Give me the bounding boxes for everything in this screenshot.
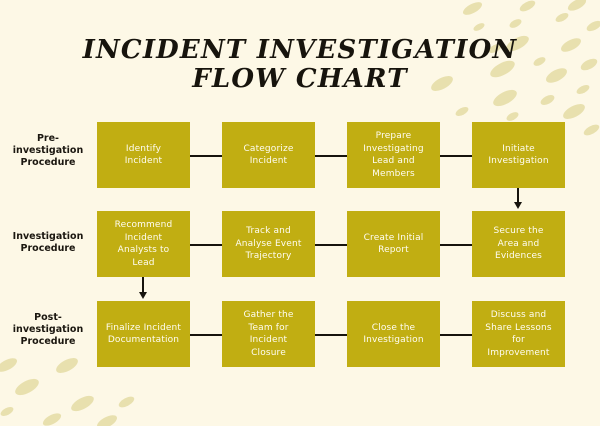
confetti-ellipse (461, 0, 484, 17)
node-label: Track and Analyse Event Trajectory (230, 225, 306, 263)
node-recommend-incident-analysts[interactable]: Recommend Incident Analysts to Lead (97, 211, 190, 277)
node-label-line: Track and (235, 225, 301, 238)
confetti-ellipse (454, 105, 470, 118)
connector-row1-3 (436, 155, 476, 157)
row-label-pre-investigation: Pre- investigation Procedure (2, 133, 94, 169)
node-discuss-share-lessons[interactable]: Discuss and Share Lessons for Improvemen… (472, 301, 565, 367)
row-label-line: Procedure (2, 157, 94, 169)
confetti-ellipse (13, 376, 42, 399)
node-gather-team-incident-closure[interactable]: Gather the Team for Incident Closure (222, 301, 315, 367)
row-label-line: investigation (2, 324, 94, 336)
node-label: Gather the Team for Incident Closure (238, 309, 298, 359)
node-label-line: Prepare (363, 130, 424, 143)
node-label-line: Trajectory (235, 250, 301, 263)
node-label-line: Closure (243, 347, 293, 360)
node-track-analyse-event-trajectory[interactable]: Track and Analyse Event Trajectory (222, 211, 315, 277)
connector-row1-2 (311, 155, 351, 157)
title-line-1: INCIDENT INVESTIGATION (0, 36, 600, 65)
confetti-ellipse (518, 0, 537, 14)
node-label-line: Incident (243, 334, 293, 347)
confetti-ellipse (505, 110, 520, 122)
node-label-line: Incident (115, 232, 173, 245)
node-label-line: Analyse Event (235, 238, 301, 251)
node-label-line: Lead (115, 257, 173, 270)
confetti-ellipse (585, 19, 600, 34)
node-label-line: for (485, 334, 551, 347)
flowchart-canvas: INCIDENT INVESTIGATION FLOW CHART Pre- i… (0, 0, 600, 426)
node-label-line: Secure the (493, 225, 543, 238)
node-label-line: Documentation (106, 334, 181, 347)
node-label: Prepare Investigating Lead and Members (358, 130, 429, 180)
node-label-line: Identify (125, 143, 163, 156)
node-label-line: Create Initial (364, 232, 424, 245)
node-label-line: Incident (125, 155, 163, 168)
confetti-ellipse (582, 122, 600, 137)
confetti-ellipse (0, 405, 15, 418)
node-label-line: Share Lessons (485, 322, 551, 335)
node-initiate-investigation[interactable]: Initiate Investigation (472, 122, 565, 188)
node-label: Secure the Area and Evidences (488, 225, 548, 263)
confetti-ellipse (117, 394, 136, 409)
node-label: Discuss and Share Lessons for Improvemen… (480, 309, 556, 359)
row-label-line: Investigation (2, 231, 94, 243)
node-label-line: Investigation (363, 334, 423, 347)
row-label-post-investigation: Post- investigation Procedure (2, 312, 94, 348)
node-label-line: Improvement (485, 347, 551, 360)
confetti-ellipse (95, 412, 119, 426)
confetti-ellipse (54, 355, 80, 376)
node-label-line: Team for (243, 322, 293, 335)
node-label-line: Gather the (243, 309, 293, 322)
node-label-line: Investigation (488, 155, 548, 168)
node-close-the-investigation[interactable]: Close the Investigation (347, 301, 440, 367)
connector-row3-1 (186, 334, 226, 336)
node-finalize-incident-documentation[interactable]: Finalize Incident Documentation (97, 301, 190, 367)
connector-row2-3 (436, 244, 476, 246)
confetti-ellipse (472, 22, 485, 33)
node-label-line: Evidences (493, 250, 543, 263)
node-label-line: Initiate (488, 143, 548, 156)
row-label-investigation: Investigation Procedure (2, 231, 94, 255)
connector-row1-1 (186, 155, 226, 157)
node-label-line: Finalize Incident (106, 322, 181, 335)
node-label: Recommend Incident Analysts to Lead (110, 219, 178, 269)
connector-row3-3 (436, 334, 476, 336)
title-line-2: FLOW CHART (0, 65, 600, 94)
node-label-line: Analysts to (115, 244, 173, 257)
confetti-ellipse (69, 393, 96, 414)
row-label-line: investigation (2, 145, 94, 157)
connector-row3-2 (311, 334, 351, 336)
node-label-line: Recommend (115, 219, 173, 232)
node-label-line: Discuss and (485, 309, 551, 322)
node-create-initial-report[interactable]: Create Initial Report (347, 211, 440, 277)
node-label: Categorize Incident (238, 143, 298, 168)
row-label-line: Pre- (2, 133, 94, 145)
node-label-line: Close the (363, 322, 423, 335)
node-label-line: Area and (493, 238, 543, 251)
node-prepare-investigating-lead[interactable]: Prepare Investigating Lead and Members (347, 122, 440, 188)
node-label-line: Lead and (363, 155, 424, 168)
confetti-ellipse (561, 101, 587, 122)
node-secure-area-evidences[interactable]: Secure the Area and Evidences (472, 211, 565, 277)
node-label: Close the Investigation (358, 322, 428, 347)
node-identify-incident[interactable]: Identify Incident (97, 122, 190, 188)
row-label-line: Post- (2, 312, 94, 324)
row-label-line: Procedure (2, 243, 94, 255)
confetti-ellipse (554, 11, 570, 24)
node-label-line: Categorize (243, 143, 293, 156)
confetti-ellipse (41, 411, 63, 426)
node-label: Initiate Investigation (483, 143, 553, 168)
arrow-down-icon-right (514, 202, 522, 209)
confetti-ellipse (508, 17, 523, 29)
node-label: Finalize Incident Documentation (101, 322, 186, 347)
arrow-down-icon-left (139, 292, 147, 299)
confetti-ellipse (0, 355, 19, 374)
node-label-line: Investigating (363, 143, 424, 156)
page-title: INCIDENT INVESTIGATION FLOW CHART (0, 36, 600, 94)
node-label-line: Members (363, 168, 424, 181)
confetti-ellipse (539, 93, 556, 107)
node-categorize-incident[interactable]: Categorize Incident (222, 122, 315, 188)
node-label-line: Incident (243, 155, 293, 168)
node-label-line: Report (364, 244, 424, 257)
connector-row2-2 (311, 244, 351, 246)
node-label: Create Initial Report (359, 232, 429, 257)
row-label-line: Procedure (2, 336, 94, 348)
confetti-ellipse (566, 0, 588, 13)
connector-row2-1 (186, 244, 226, 246)
node-label: Identify Incident (120, 143, 168, 168)
